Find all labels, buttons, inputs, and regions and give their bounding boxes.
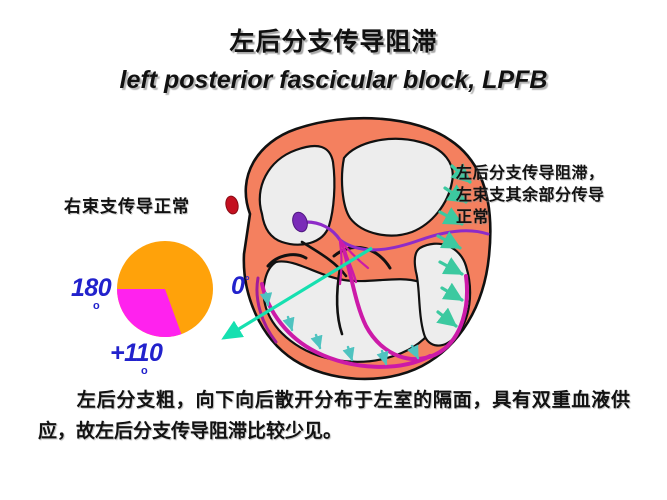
sa-node bbox=[224, 195, 239, 215]
annotation-lpfb-line1: 左后分支传导阻滞， bbox=[456, 162, 605, 184]
axis-label-0-number: 0 bbox=[231, 272, 244, 300]
page-title-chinese: 左后分支传导阻滞 bbox=[0, 22, 667, 58]
axis-label-0-degree-symbol: ° bbox=[244, 274, 248, 288]
axis-label-0: 0° bbox=[231, 272, 249, 301]
axis-label-180: 180 bbox=[71, 274, 111, 303]
axis-label-180-degree-symbol: o bbox=[93, 300, 100, 312]
annotation-right-bundle-normal: 右束支传导正常 bbox=[64, 192, 190, 217]
annotation-lpfb-line3: 正常 bbox=[456, 206, 605, 228]
annotation-lpfb-block: 左后分支传导阻滞， 左束支其余部分传导 正常 bbox=[456, 162, 605, 228]
heart-illustration bbox=[224, 118, 490, 379]
axis-pie-chart bbox=[117, 241, 213, 337]
bottom-note: 左后分支粗，向下向后散开分布于左室的隔面，具有双重血液供应，故左后分支传导阻滞比… bbox=[38, 385, 630, 447]
page-title-english: left posterior fascicular block, LPFB bbox=[0, 66, 667, 95]
axis-label-110: +110 bbox=[110, 339, 162, 368]
slide-root: 左后分支传导阻滞 left posterior fascicular block… bbox=[0, 0, 667, 500]
annotation-lpfb-line2: 左束支其余部分传导 bbox=[456, 184, 605, 206]
bottom-note-text: 左后分支粗，向下向后散开分布于左室的隔面，具有双重血液供应，故左后分支传导阻滞比… bbox=[38, 389, 630, 442]
axis-label-110-degree-symbol: o bbox=[141, 365, 148, 377]
